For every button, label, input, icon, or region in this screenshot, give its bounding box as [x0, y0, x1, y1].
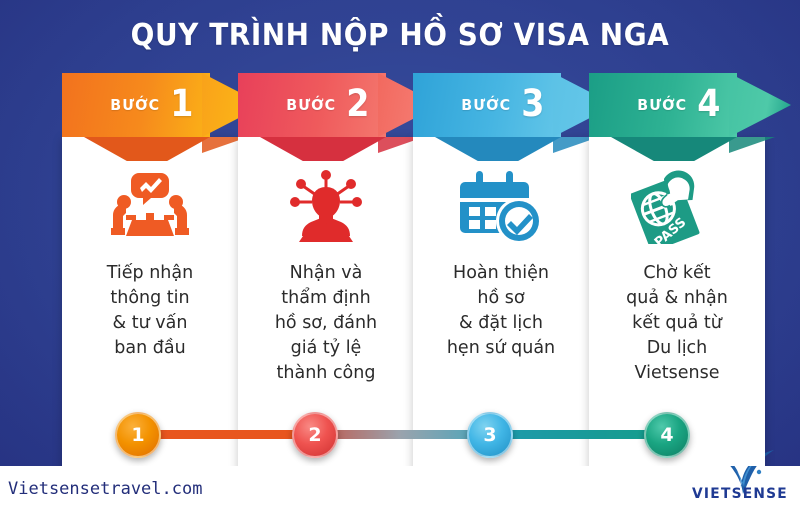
- step-banner-2[interactable]: BƯỚC 2: [238, 73, 414, 137]
- step-text-2: Nhận và thẩm định hồ sơ, đánh giá tỷ lệ …: [244, 261, 408, 386]
- step-banner-3[interactable]: BƯỚC 3: [413, 73, 589, 137]
- step-number-3: 3: [521, 85, 544, 122]
- step-number-1: 1: [170, 85, 193, 122]
- step-banner-4[interactable]: BƯỚC 4: [589, 73, 765, 137]
- banner-label-4: BƯỚC 4: [589, 73, 765, 137]
- step-text-1: Tiếp nhận thông tin & tư vấn ban đầu: [68, 261, 232, 361]
- infographic-stage: QUY TRÌNH NỘP HỒ SƠ VISA NGA BƯỚC 1: [0, 0, 800, 466]
- passport-hand-icon: PASS: [631, 169, 723, 245]
- step-word-1: BƯỚC: [111, 96, 161, 114]
- step-word-4: BƯỚC: [638, 96, 688, 114]
- step-text-3: Hoàn thiện hồ sơ & đặt lịch hẹn sứ quán: [419, 261, 583, 361]
- banner-label-3: BƯỚC 3: [413, 73, 589, 137]
- network-person-laptop-icon: [286, 169, 366, 245]
- step-word-3: BƯỚC: [462, 96, 512, 114]
- meeting-consultation-icon: [102, 169, 198, 245]
- watermark-url: Vietsensetravel.com: [8, 479, 202, 499]
- step-text-4: Chờ kết quả & nhận kết quả từ Du lịch Vi…: [595, 261, 759, 386]
- timeline-node-1[interactable]: 1: [115, 412, 161, 458]
- banner-label-2: BƯỚC 2: [238, 73, 414, 137]
- calendar-check-icon: [459, 169, 543, 245]
- timeline-node-3-label: 3: [483, 424, 496, 446]
- step-banner-1[interactable]: BƯỚC 1: [62, 73, 238, 137]
- step-number-4: 4: [697, 85, 720, 122]
- banner-label-1: BƯỚC 1: [62, 73, 238, 137]
- page-title: QUY TRÌNH NỘP HỒ SƠ VISA NGA: [28, 18, 772, 53]
- step-column-4: BƯỚC 4 PASS: [589, 73, 765, 448]
- step-number-2: 2: [346, 85, 369, 122]
- timeline-node-2-label: 2: [308, 424, 321, 446]
- timeline-node-4-label: 4: [660, 424, 673, 446]
- timeline-node-2[interactable]: 2: [292, 412, 338, 458]
- step-column-3: BƯỚC 3: [413, 73, 589, 448]
- vietsense-wordmark: VIETSENSE: [689, 486, 792, 502]
- step-column-1: BƯỚC 1: [62, 73, 238, 448]
- step-word-2: BƯỚC: [287, 96, 337, 114]
- timeline-node-3[interactable]: 3: [467, 412, 513, 458]
- timeline-node-1-label: 1: [131, 424, 144, 446]
- timeline-node-4[interactable]: 4: [644, 412, 690, 458]
- step-column-2: BƯỚC 2: [238, 73, 414, 448]
- progress-timeline: 1 2 3 4: [0, 398, 800, 466]
